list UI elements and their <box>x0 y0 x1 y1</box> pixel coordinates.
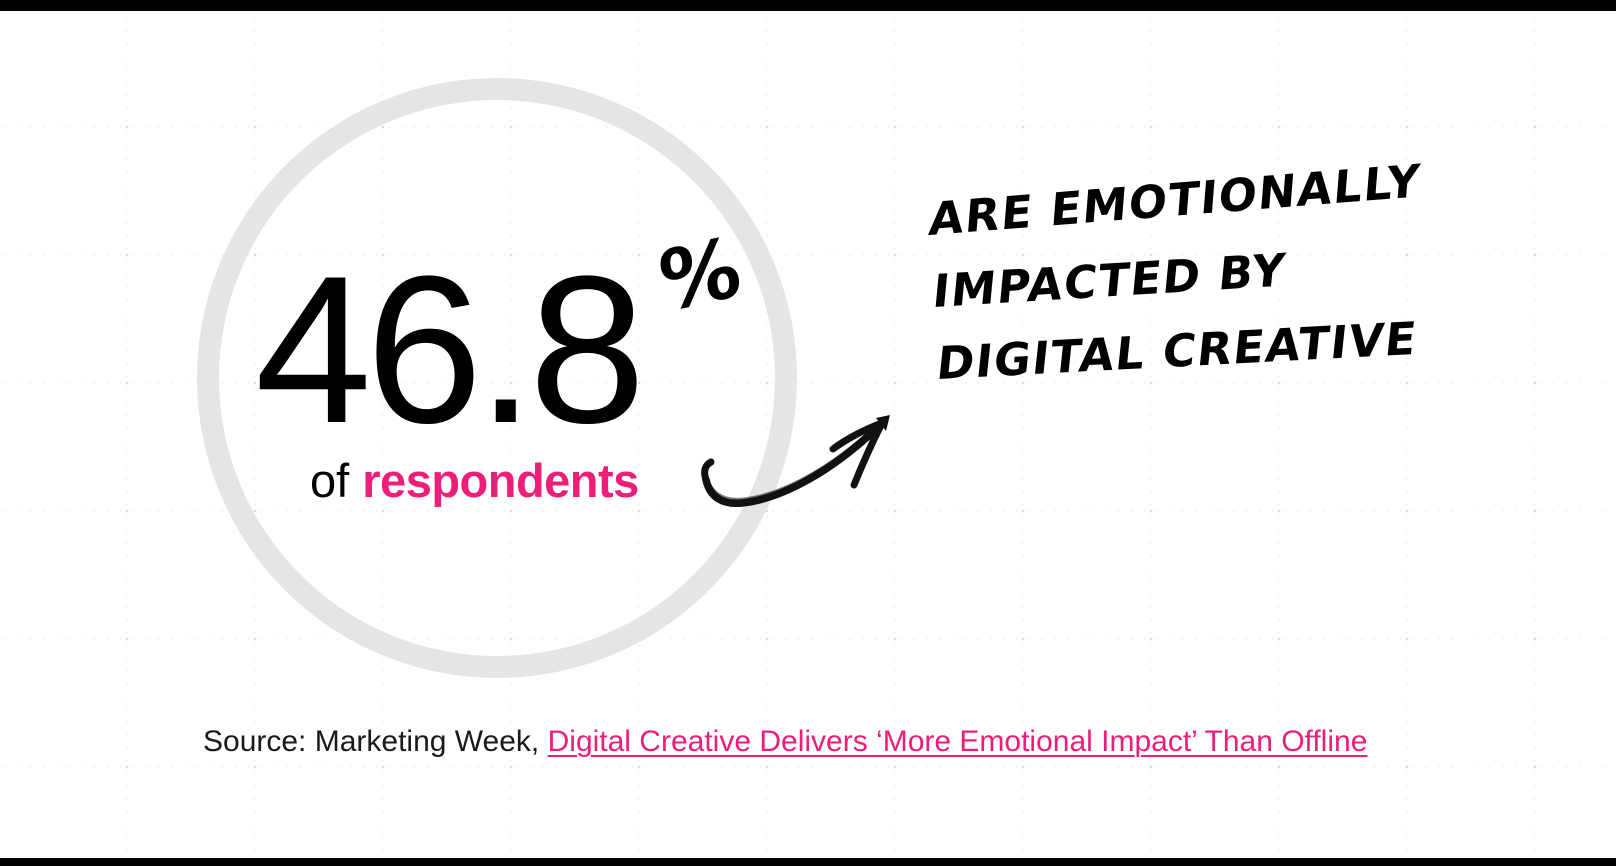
infographic-canvas: 46.8 % of respondents Are Emotionally Im… <box>0 0 1616 866</box>
percent-symbol: % <box>656 226 745 325</box>
hand-drawn-curved-arrow-icon <box>700 385 930 520</box>
top-black-bar <box>0 0 1616 11</box>
stat-caption-highlight: respondents <box>362 454 639 507</box>
headline-block: Are Emotionally Impacted By Digital Crea… <box>925 195 1395 389</box>
bottom-black-bar <box>0 858 1616 866</box>
headline-line-3: Digital Creative <box>934 315 1397 389</box>
stat-block: 46.8 % <box>255 250 775 450</box>
stat-value: 46.8 <box>255 250 640 450</box>
stat-caption: of respondents <box>310 455 639 507</box>
source-link[interactable]: Digital Creative Delivers ‘More Emotiona… <box>548 725 1368 758</box>
source-label: Source: Marketing Week, <box>203 725 539 758</box>
headline-line-2: Impacted By <box>931 239 1397 318</box>
stat-caption-prefix: of <box>310 454 349 507</box>
source-attribution: Source: Marketing Week, Digital Creative… <box>203 722 1367 762</box>
